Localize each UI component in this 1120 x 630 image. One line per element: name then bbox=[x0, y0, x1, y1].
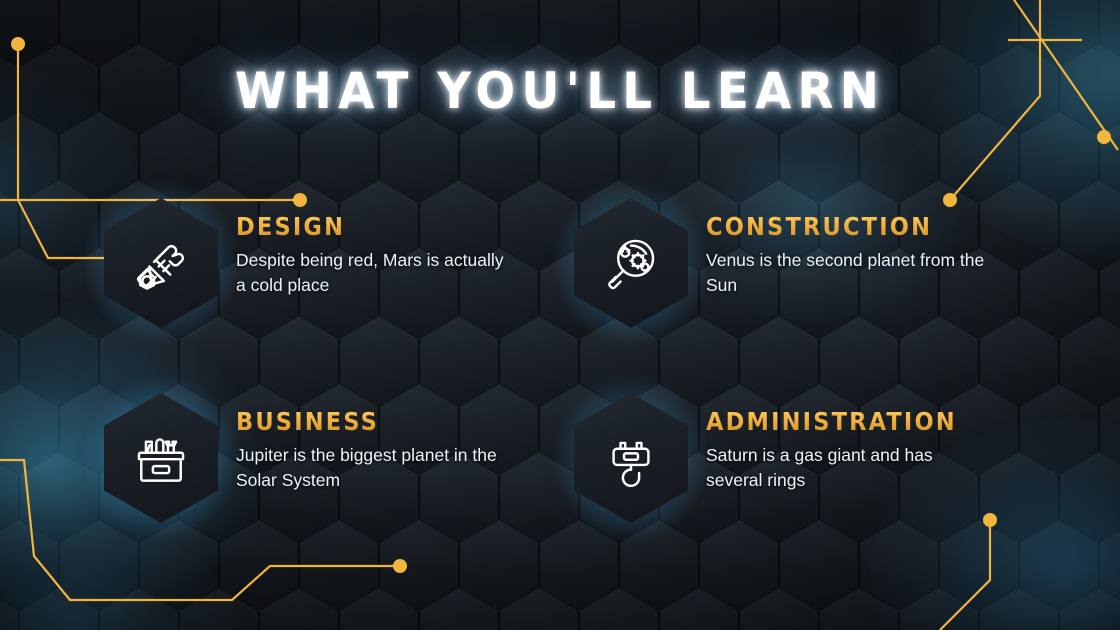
screw-and-nut-icon bbox=[132, 234, 190, 292]
topic-body: Jupiter is the biggest planet in the Sol… bbox=[236, 443, 518, 493]
slide-canvas: WHAT YOU'LL LEARN DESIGN Despite bein bbox=[0, 0, 1120, 630]
topic-text-design: DESIGN Despite being red, Mars is actual… bbox=[218, 198, 518, 298]
topic-text-construction: CONSTRUCTION Venus is the second planet … bbox=[688, 198, 988, 298]
icon-hexagon-construction bbox=[574, 198, 688, 328]
toolbox-icon bbox=[132, 429, 190, 487]
topic-heading: DESIGN bbox=[236, 212, 518, 241]
topic-item-construction[interactable]: CONSTRUCTION Venus is the second planet … bbox=[574, 198, 988, 328]
topic-body: Despite being red, Mars is actually a co… bbox=[236, 248, 518, 298]
icon-hexagon-administration bbox=[574, 393, 688, 523]
topic-item-design[interactable]: DESIGN Despite being red, Mars is actual… bbox=[104, 198, 518, 328]
topic-body: Venus is the second planet from the Sun bbox=[706, 248, 988, 298]
topic-heading: BUSINESS bbox=[236, 407, 518, 436]
learning-topics-grid: DESIGN Despite being red, Mars is actual… bbox=[0, 0, 1120, 630]
topic-text-business: BUSINESS Jupiter is the biggest planet i… bbox=[218, 393, 518, 493]
topic-heading: ADMINISTRATION bbox=[706, 407, 988, 436]
icon-hexagon-business bbox=[104, 393, 218, 523]
topic-text-administration: ADMINISTRATION Saturn is a gas giant and… bbox=[688, 393, 988, 493]
topic-heading: CONSTRUCTION bbox=[706, 212, 988, 241]
topic-item-administration[interactable]: ADMINISTRATION Saturn is a gas giant and… bbox=[574, 393, 988, 523]
icon-hexagon-design bbox=[104, 198, 218, 328]
crane-hook-icon bbox=[602, 429, 660, 487]
magnifier-gear-icon bbox=[602, 234, 660, 292]
topic-item-business[interactable]: BUSINESS Jupiter is the biggest planet i… bbox=[104, 393, 518, 523]
topic-body: Saturn is a gas giant and has several ri… bbox=[706, 443, 988, 493]
